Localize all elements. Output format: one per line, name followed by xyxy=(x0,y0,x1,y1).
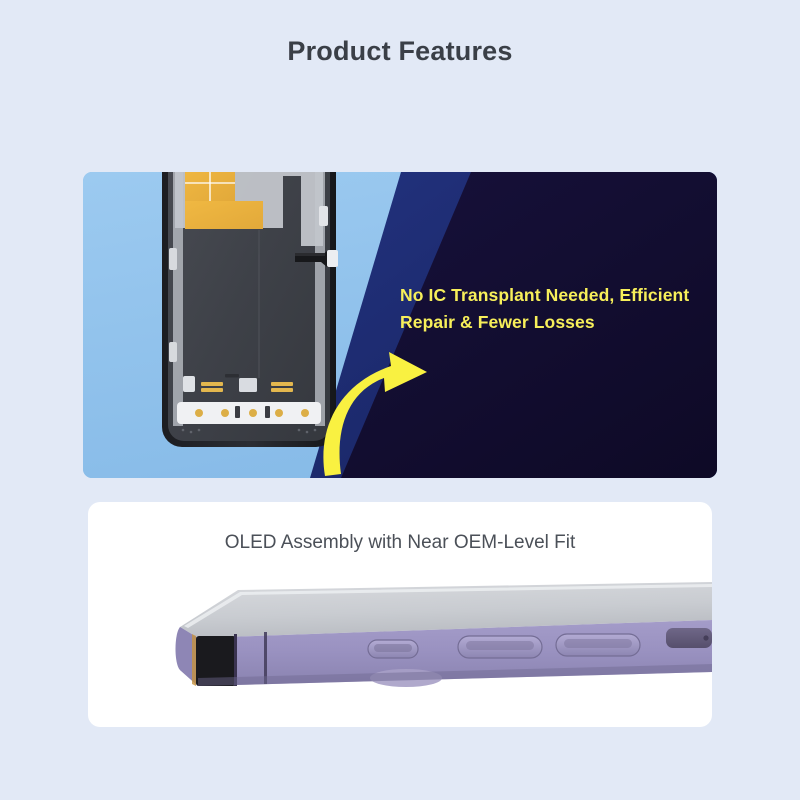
oled-display-assembly-image xyxy=(159,172,339,450)
photo-card: OLED Assembly with Near OEM-Level Fit xyxy=(88,502,712,727)
photo-caption: OLED Assembly with Near OEM-Level Fit xyxy=(88,532,712,554)
iphone-side-profile-image xyxy=(88,574,712,727)
feature-headline: No IC Transplant Needed, Efficient Repai… xyxy=(400,282,692,336)
page-title: Product Features xyxy=(0,36,800,67)
feature-card: No IC Transplant Needed, Efficient Repai… xyxy=(83,172,717,478)
